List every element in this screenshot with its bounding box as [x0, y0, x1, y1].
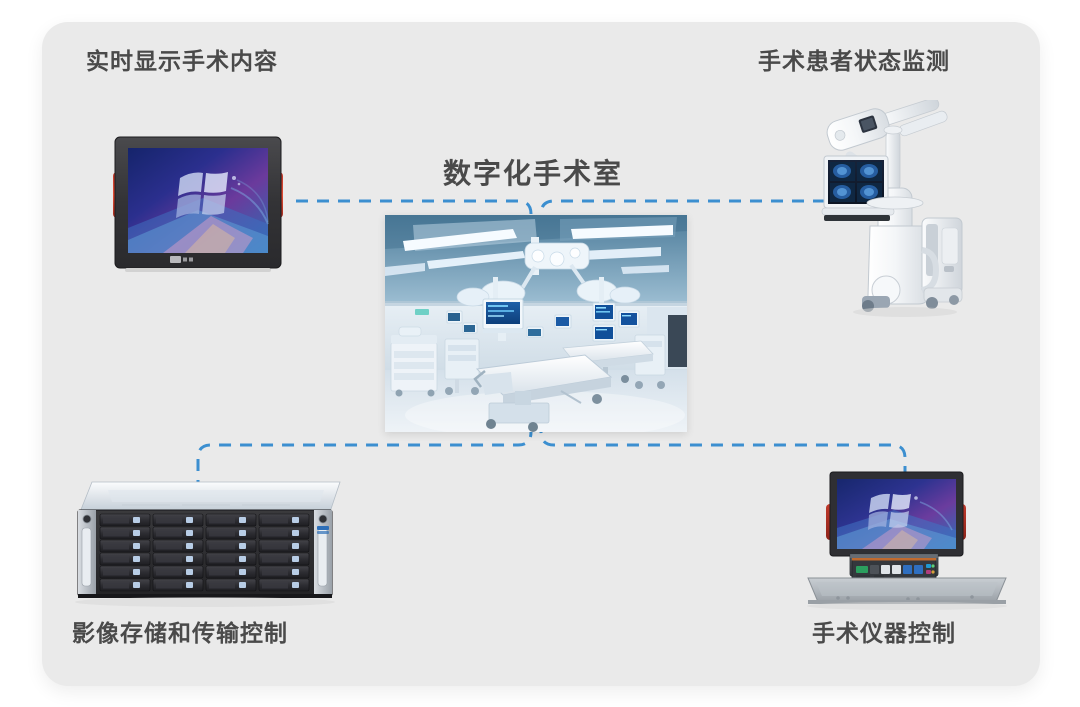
node-label-bottom-left: 影像存储和传输控制 — [72, 622, 288, 645]
device-industrial-panel-pc — [790, 466, 1025, 611]
device-mobile-imaging-cart: KONSUNG — [800, 100, 985, 318]
node-label-top-right: 手术患者状态监测 — [758, 50, 950, 73]
center-title: 数字化手术室 — [443, 160, 623, 188]
node-label-top-left: 实时显示手术内容 — [86, 50, 278, 73]
diagram-canvas: 实时显示手术内容 手术患者状态监测 影像存储和传输控制 手术仪器控制 数字化手术… — [0, 0, 1080, 707]
operating-room-photo — [385, 215, 687, 432]
node-label-bottom-right: 手术仪器控制 — [812, 622, 956, 645]
device-medical-display-monitor — [103, 128, 293, 283]
device-rack-storage-server — [62, 478, 354, 608]
